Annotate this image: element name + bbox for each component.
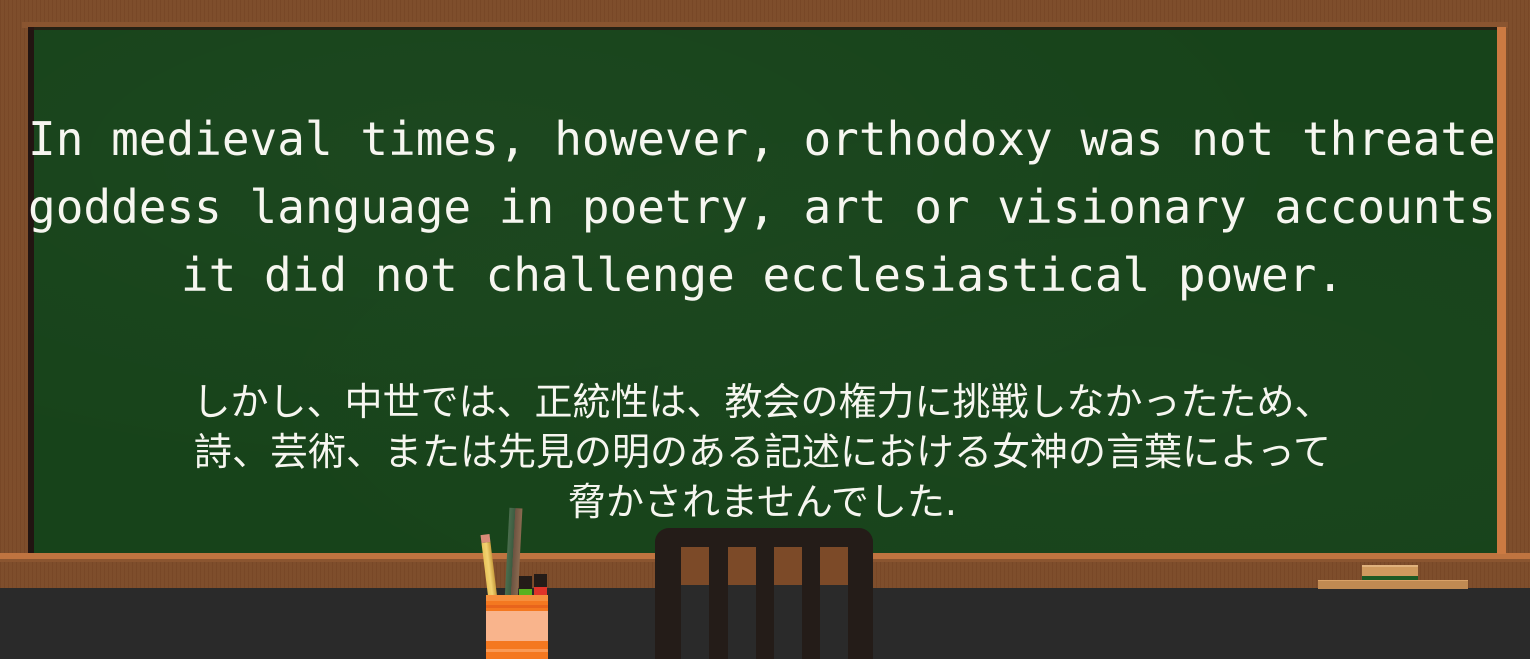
pencil-cup-rim [486, 595, 548, 601]
eraser-on-ledge[interactable] [1318, 562, 1468, 588]
english-line-1: In medieval times, however, orthodoxy wa… [28, 105, 1497, 173]
japanese-line-3: 脅かされませんでした. [28, 477, 1497, 527]
eraser-felt [1362, 576, 1418, 580]
board-text-block: In medieval times, however, orthodoxy wa… [28, 27, 1497, 527]
text-block-spacer [28, 309, 1497, 377]
chair-slat-gap-2 [728, 547, 756, 659]
pencil-cup-body [486, 595, 548, 659]
pencil-cup[interactable] [478, 508, 556, 659]
chair [655, 528, 873, 659]
pencil-cup-stripe-top [486, 605, 548, 608]
english-line-3: it did not challenge ecclesiastical powe… [28, 241, 1497, 309]
pencil-cup-stripe-bottom [486, 649, 548, 652]
chalk-ledge [1318, 580, 1468, 589]
chair-slat-gap-3 [774, 547, 802, 659]
japanese-text-block: しかし、中世では、正統性は、教会の権力に挑戦しなかったため、 詩、芸術、または先… [28, 377, 1497, 527]
japanese-line-1: しかし、中世では、正統性は、教会の権力に挑戦しなかったため、 [28, 377, 1497, 427]
marker-green-cap [519, 576, 532, 589]
chair-slat-gap-1 [681, 547, 709, 659]
chair-slat-gap-lower-4 [820, 585, 848, 659]
chalkboard-scene: In medieval times, however, orthodoxy wa… [0, 0, 1530, 659]
chalkboard-surface[interactable]: In medieval times, however, orthodoxy wa… [28, 27, 1497, 553]
marker-red-cap [534, 574, 547, 587]
chair-slat-gap-lower-1 [681, 585, 709, 659]
english-line-2: goddess language in poetry, art or visio… [28, 173, 1497, 241]
pencil-cup-light-band [486, 611, 548, 641]
chair-slat-gap-lower-3 [774, 585, 802, 659]
frame-right-highlight [1497, 27, 1506, 554]
english-text-block: In medieval times, however, orthodoxy wa… [28, 105, 1497, 309]
japanese-line-2: 詩、芸術、または先見の明のある記述における女神の言葉によって [28, 427, 1497, 477]
chair-slat-gap-lower-2 [728, 585, 756, 659]
chair-slat-gap-4 [820, 547, 848, 659]
